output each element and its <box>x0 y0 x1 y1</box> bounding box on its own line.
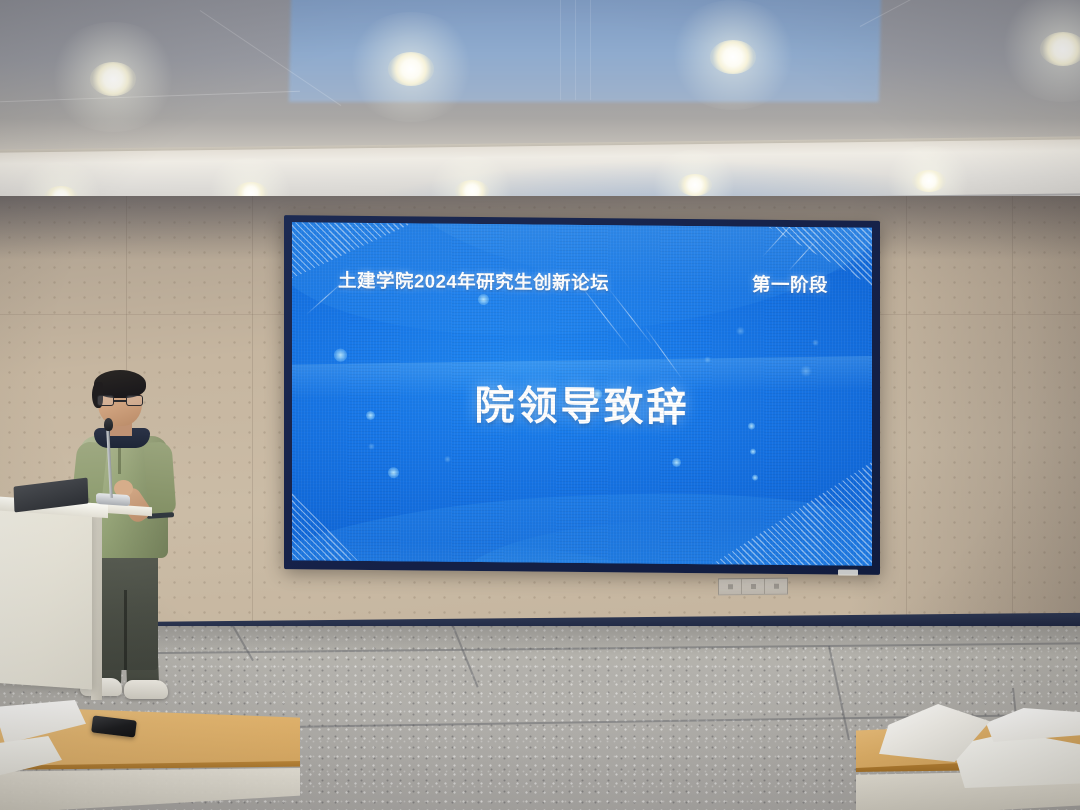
display-bezel: 土建学院2024年研究生创新论坛 第一阶段 院领导致辞 <box>284 215 880 575</box>
display-brand-label <box>838 569 858 575</box>
ceiling-grid-line <box>575 0 576 100</box>
ceiling-downlight <box>388 52 434 86</box>
microphone-base <box>96 493 130 506</box>
glasses-icon <box>97 395 143 406</box>
presentation-slide: 土建学院2024年研究生创新论坛 第一阶段 院领导致辞 <box>292 222 872 566</box>
conference-room-photo: 土建学院2024年研究生创新论坛 第一阶段 院领导致辞 <box>0 0 1080 810</box>
podium-front-panel <box>0 505 92 690</box>
switch-button[interactable] <box>742 579 765 594</box>
wall-switch-plate[interactable] <box>718 578 788 596</box>
ceiling-downlight <box>1040 32 1080 66</box>
slide-title: 院领导致辞 <box>292 222 872 566</box>
trouser-seam <box>124 590 127 670</box>
switch-button[interactable] <box>765 579 787 594</box>
shoe <box>124 680 168 699</box>
wall-panel-seam <box>252 196 253 636</box>
switch-button[interactable] <box>719 579 742 594</box>
ceiling-grid-line <box>590 0 591 100</box>
desk-apron <box>0 768 300 810</box>
ceiling-downlight <box>678 174 712 196</box>
ceiling-downlight <box>912 170 946 192</box>
ceiling-downlight <box>710 40 756 74</box>
microphone-icon <box>104 418 113 431</box>
podium <box>0 500 100 700</box>
wall-side-shading <box>850 196 1080 636</box>
led-display[interactable]: 土建学院2024年研究生创新论坛 第一阶段 院领导致辞 <box>284 215 880 575</box>
ceiling-grid-line <box>560 0 561 100</box>
podium-leg <box>91 514 102 700</box>
ceiling-downlight <box>90 62 136 96</box>
